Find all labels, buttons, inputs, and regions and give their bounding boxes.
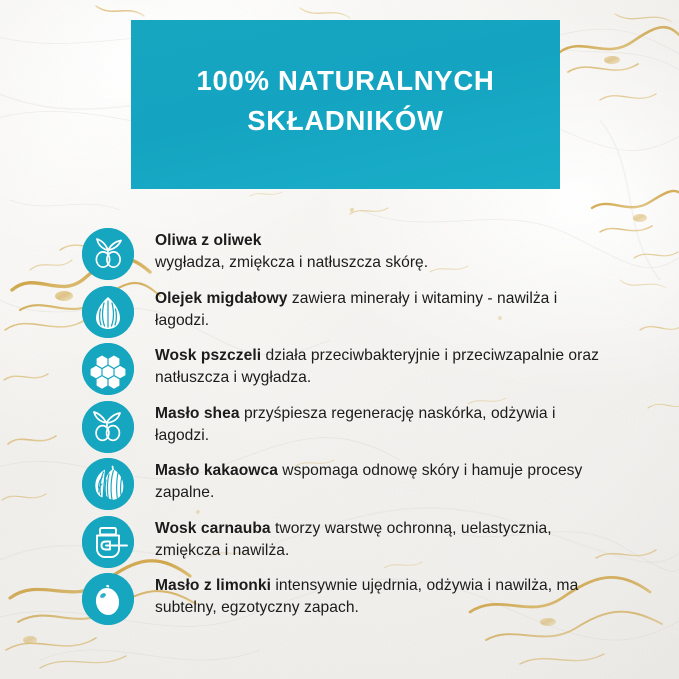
wax-jar-icon [82,516,134,568]
ingredient-name: Masło z limonki [155,577,271,594]
ingredient-name: Olejek migdałowy [155,290,288,307]
ingredient-name: Wosk carnauba [155,520,271,537]
honeycomb-icon [82,343,134,395]
ingredient-text: Masło kakaowca wspomaga odnowę skóry i h… [155,458,612,505]
olive-icon [82,228,134,280]
ingredient-text: Masło z limonki intensywnie ujędrnia, od… [155,573,612,620]
banner-title: 100% NATURALNYCH SKŁADNIKÓW [197,61,495,147]
ingredient-text: Olejek migdałowy zawiera minerały i wita… [155,286,612,333]
ingredient-text: Oliwa z oliwek wygładza, zmiękcza i natł… [155,228,612,275]
list-item: Olejek migdałowy zawiera minerały i wita… [82,286,612,338]
ingredient-description: wygładza, zmiękcza i natłuszcza skórę. [155,254,428,271]
list-item: Wosk pszczeli działa przeciwbakteryjnie … [82,343,612,395]
ingredient-text: Wosk pszczeli działa przeciwbakteryjnie … [155,343,612,390]
ingredient-text: Masło shea przyśpiesza regenerację naskó… [155,401,612,448]
product-ingredients-infographic: 100% NATURALNYCH SKŁADNIKÓW [0,0,679,679]
list-item: Masło z limonki intensywnie ujędrnia, od… [82,573,612,625]
ingredient-text: Wosk carnauba tworzy warstwę ochronną, u… [155,516,612,563]
ingredient-list: Oliwa z oliwek wygładza, zmiękcza i natł… [82,228,612,631]
header-banner: 100% NATURALNYCH SKŁADNIKÓW [131,20,560,189]
almond-icon [82,286,134,338]
ingredient-name: Wosk pszczeli [155,347,261,364]
lime-icon [82,573,134,625]
list-item: Masło shea przyśpiesza regenerację naskó… [82,401,612,453]
cocoa-pod-icon [82,458,134,510]
ingredient-name: Masło shea [155,405,240,422]
list-item: Masło kakaowca wspomaga odnowę skóry i h… [82,458,612,510]
shea-nut-icon [82,401,134,453]
list-item: Wosk carnauba tworzy warstwę ochronną, u… [82,516,612,568]
ingredient-name: Oliwa z oliwek [155,232,261,249]
list-item: Oliwa z oliwek wygładza, zmiękcza i natł… [82,228,612,280]
ingredient-name: Masło kakaowca [155,462,278,479]
